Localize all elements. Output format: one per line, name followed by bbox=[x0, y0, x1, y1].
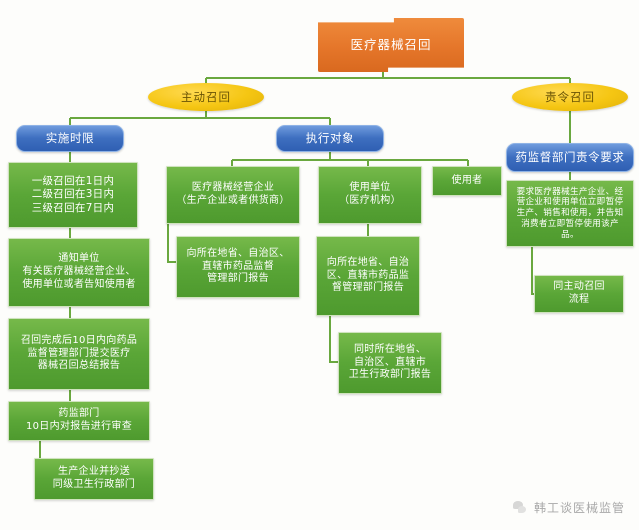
node-copy-to-health-department[interactable]: 生产企业并抄送 同级卫生行政部门 bbox=[34, 458, 154, 500]
node-user-unit-report-to-health-department[interactable]: 同时所在地省、 自治区、直辖市 卫生行政部门报告 bbox=[338, 332, 442, 394]
node-user-unit-report-to-provincial-authority[interactable]: 向所在地省、自治 区、直辖市药品监 督管理部门报告 bbox=[316, 236, 420, 316]
wechat-icon bbox=[513, 500, 528, 515]
watermark: 韩工谈医械监管 bbox=[513, 499, 625, 516]
watermark-text: 韩工谈医械监管 bbox=[534, 499, 625, 516]
node-medical-device-dealer[interactable]: 医疗器械经营企业 （生产企业或者供货商） bbox=[166, 166, 300, 224]
node-order-requirement-detail[interactable]: 要求医疗器械生产企业、经 营企业和使用单位立即暂停 生产、销售和使用，并告知 消… bbox=[506, 180, 634, 247]
node-user-unit[interactable]: 使用单位 （医疗机构） bbox=[318, 166, 422, 224]
node-same-as-voluntary-recall-process[interactable]: 同主动召回 流程 bbox=[534, 275, 624, 313]
node-submit-summary-report[interactable]: 召回完成后10日内向药品 监督管理部门提交医疗 器械召回总结报告 bbox=[8, 318, 150, 390]
node-authority-review-report[interactable]: 药监部门 10日内对报告进行审查 bbox=[8, 401, 150, 441]
node-recall-level-deadlines[interactable]: 一级召回在1日内 二级召回在3日内 三级召回在7日内 bbox=[8, 162, 138, 228]
flowchart-canvas: 医疗器械召回 主动召回 责令召回 实施时限 执行对象 药监督部门责令要求 一级召… bbox=[0, 0, 639, 530]
node-end-user[interactable]: 使用者 bbox=[432, 166, 502, 196]
header-node-authority-order-requirement[interactable]: 药监督部门责令要求 bbox=[506, 143, 634, 172]
header-node-execution-subject[interactable]: 执行对象 bbox=[276, 125, 384, 152]
branch-node-ordered-recall[interactable]: 责令召回 bbox=[512, 83, 628, 111]
node-dealer-report-to-provincial-authority[interactable]: 向所在地省、自治区、 直辖市药品监督 管理部门报告 bbox=[176, 236, 300, 298]
branch-node-voluntary-recall[interactable]: 主动召回 bbox=[148, 83, 264, 111]
node-notify-units[interactable]: 通知单位 有关医疗器械经营企业、 使用单位或者告知使用者 bbox=[8, 238, 150, 307]
header-node-implementation-deadline[interactable]: 实施时限 bbox=[16, 125, 124, 152]
root-node-medical-device-recall[interactable]: 医疗器械召回 bbox=[318, 18, 464, 72]
